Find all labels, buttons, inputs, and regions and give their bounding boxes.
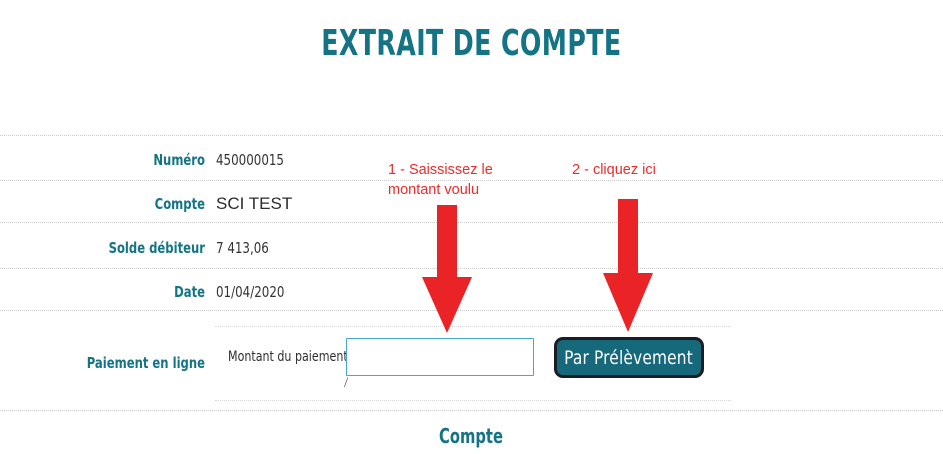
page-title: EXTRAIT DE COMPTE — [104, 22, 840, 66]
row-value-compte: SCI TEST — [216, 194, 292, 214]
row-value-numero: 450000015 — [216, 150, 284, 170]
footer-compte-label: Compte — [440, 423, 504, 449]
row-label-solde-debiteur: Solde débiteur — [29, 238, 205, 258]
row-label-paiement-en-ligne: Paiement en ligne — [29, 353, 205, 373]
footer-separator — [0, 410, 943, 411]
row-value-date: 01/04/2020 — [216, 282, 284, 302]
row-value-solde-debiteur: 7 413,06 — [216, 238, 269, 258]
annotation-step-2: 2 - cliquez ici — [572, 160, 732, 180]
text-caret-artifact: / — [344, 376, 351, 390]
online-payment-row: Paiement en ligne Montant du paiement : … — [0, 326, 943, 410]
footer-compte-link[interactable]: Compte — [0, 423, 943, 449]
row-separator — [0, 135, 943, 136]
annotation-arrow-1-icon — [419, 205, 475, 335]
par-prelevement-button[interactable]: Par Prélèvement — [554, 337, 704, 378]
annotation-arrow-2-icon — [600, 199, 656, 334]
annotation-step-1: 1 - Saississez le montant voulu — [388, 160, 538, 200]
account-statement-page: EXTRAIT DE COMPTE Numéro 450000015 Compt… — [0, 0, 943, 454]
row-label-compte: Compte — [29, 194, 205, 214]
par-prelevement-button-label: Par Prélèvement — [565, 347, 694, 369]
row-label-numero: Numéro — [29, 150, 205, 170]
row-label-date: Date — [29, 282, 205, 302]
payment-amount-input[interactable] — [346, 338, 534, 376]
amount-caption: Montant du paiement : — [228, 347, 355, 367]
